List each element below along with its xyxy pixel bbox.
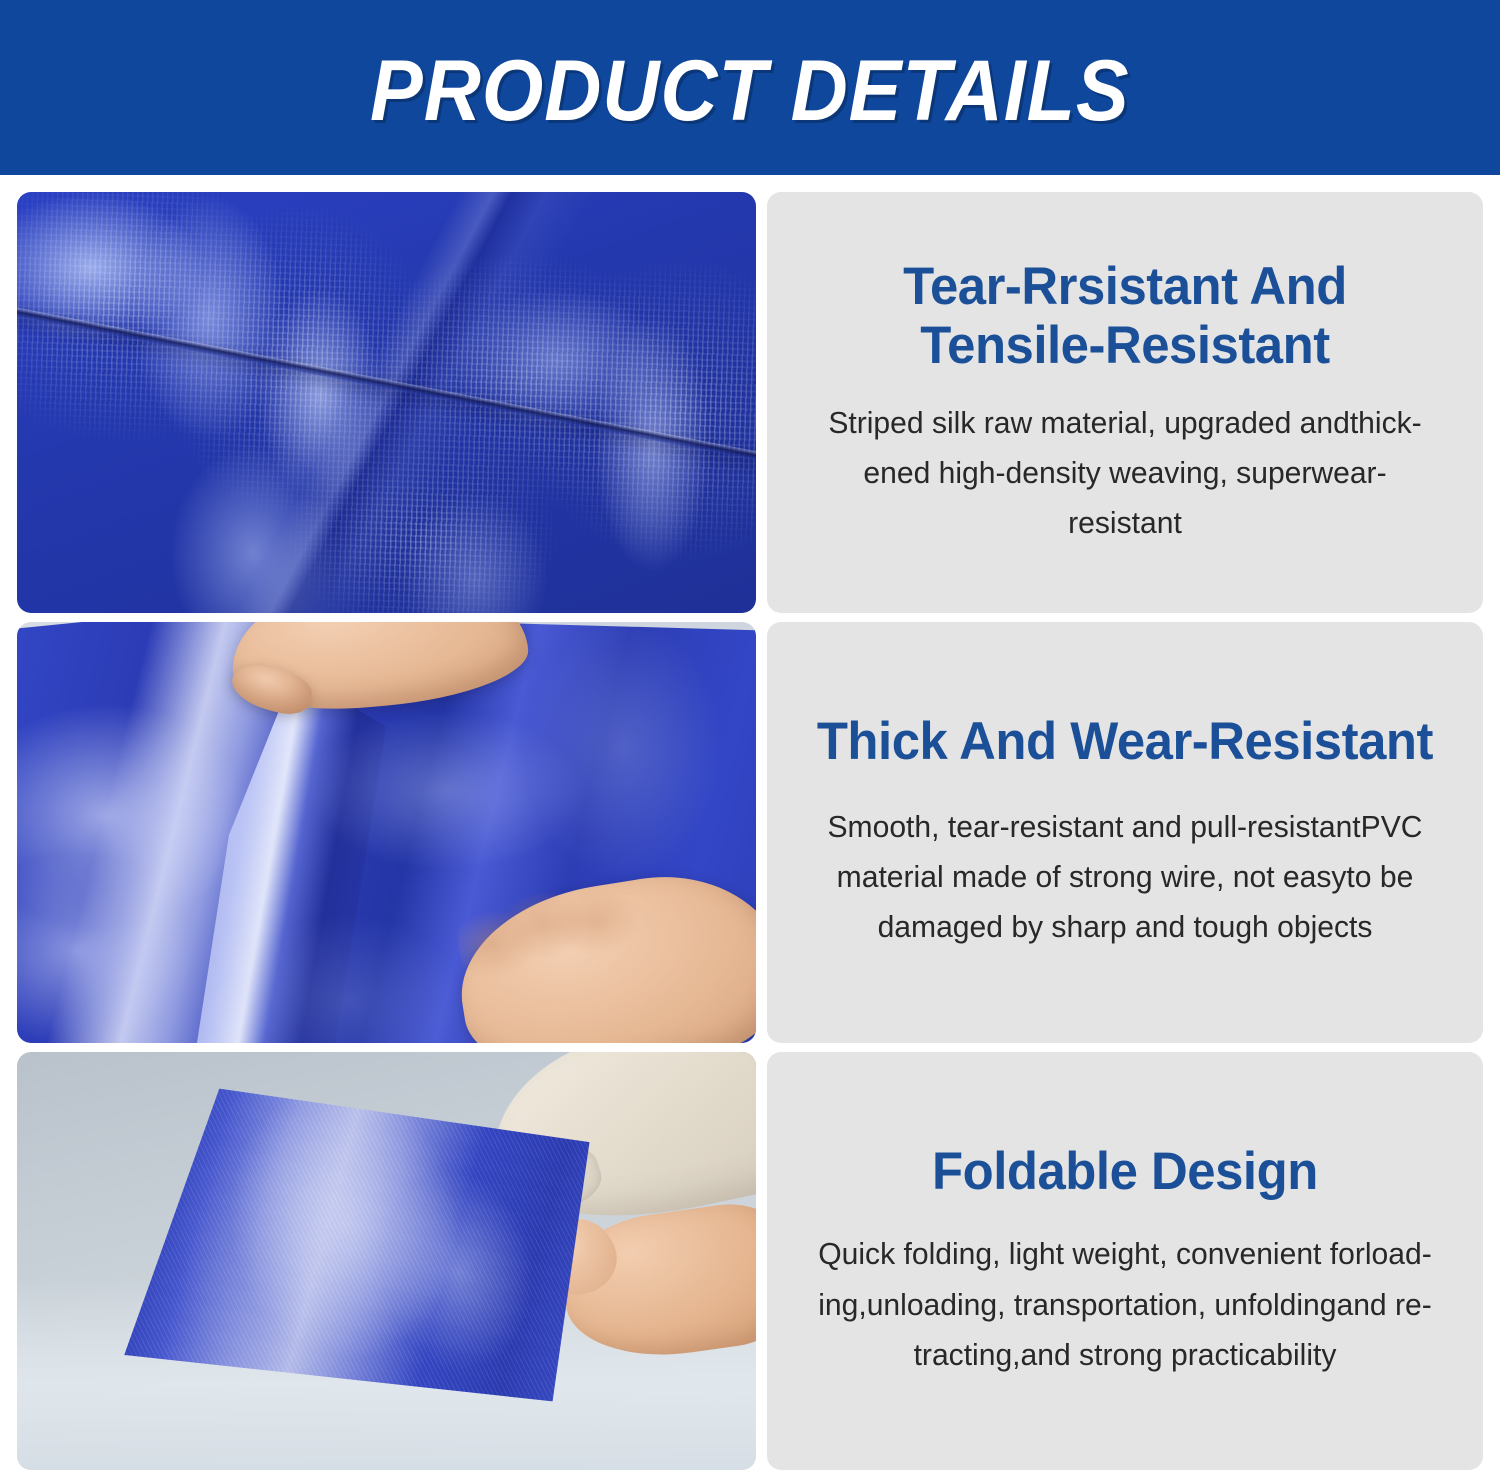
header-banner: PRODUCT DETAILS [0, 0, 1500, 175]
feature-description: Smooth, tear-resistant and pull-resistan… [807, 802, 1443, 953]
feature-title: Thick And Wear-Resistant [817, 712, 1433, 771]
feature-row-foldable-design: Foldable Design Quick folding, light wei… [17, 1052, 1483, 1470]
feature-title: Tear-Rrsistant And Tensile-Resistant [810, 257, 1440, 376]
feature-image-thick-wear-resistant [17, 622, 756, 1043]
feature-text-tear-resistant: Tear-Rrsistant And Tensile-Resistant Str… [767, 192, 1483, 613]
feature-row-thick-wear-resistant: Thick And Wear-Resistant Smooth, tear-re… [17, 622, 1483, 1043]
feature-row-tear-resistant: Tear-Rrsistant And Tensile-Resistant Str… [17, 192, 1483, 613]
feature-text-foldable-design: Foldable Design Quick folding, light wei… [767, 1052, 1483, 1470]
tarp-gloss-highlight [17, 192, 756, 613]
feature-image-foldable-design [17, 1052, 756, 1470]
page-title: PRODUCT DETAILS [370, 42, 1130, 134]
feature-description: Quick folding, light weight, convenient … [807, 1229, 1443, 1380]
feature-description: Striped silk raw material, upgraded andt… [807, 398, 1443, 549]
feature-title: Foldable Design [932, 1142, 1318, 1201]
feature-image-tear-resistant [17, 192, 756, 613]
product-details-infographic: PRODUCT DETAILS Tear-Rrsistant And Tensi… [0, 0, 1500, 1481]
feature-text-thick-wear-resistant: Thick And Wear-Resistant Smooth, tear-re… [767, 622, 1483, 1043]
feature-rows: Tear-Rrsistant And Tensile-Resistant Str… [0, 175, 1500, 1481]
